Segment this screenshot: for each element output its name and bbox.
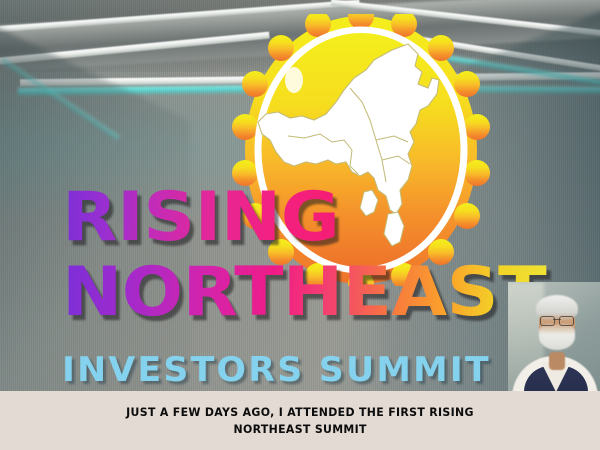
speaker-neck xyxy=(549,352,565,370)
speaker-glasses xyxy=(540,316,574,324)
caption-line-1: JUST A FEW DAYS AGO, I ATTENDED THE FIRS… xyxy=(126,405,474,419)
caption-bar: JUST A FEW DAYS AGO, I ATTENDED THE FIRS… xyxy=(0,391,600,450)
caption-line-2: NORTHEAST SUMMIT xyxy=(233,422,366,436)
speaker-beard xyxy=(539,324,575,350)
screenshot-root: RISING RISING NORTHEAST NORTHEAST INVEST… xyxy=(0,0,600,450)
sun-burst-map-emblem xyxy=(232,14,490,286)
